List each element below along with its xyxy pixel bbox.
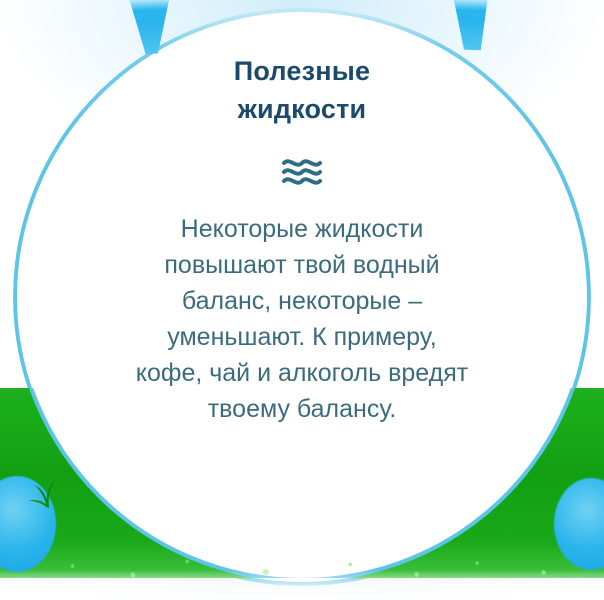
water-droplet-right-icon (554, 478, 604, 570)
grass-tuft-icon (25, 475, 64, 514)
water-drip-left-icon (126, 0, 172, 55)
water-wave-icon (280, 155, 324, 189)
body-text: Некоторые жидкости повышают твой водный … (56, 211, 548, 427)
water-drip-right-icon (451, 0, 491, 51)
infographic-poster: Полезные жидкости Некоторые жидкости пов… (0, 0, 604, 600)
bottom-haze (0, 570, 604, 600)
water-droplet-left-icon (0, 476, 56, 572)
poster-content: Полезные жидкости Некоторые жидкости пов… (52, 52, 552, 427)
page-title: Полезные жидкости (52, 52, 552, 129)
grass-speckle-band (0, 554, 604, 584)
